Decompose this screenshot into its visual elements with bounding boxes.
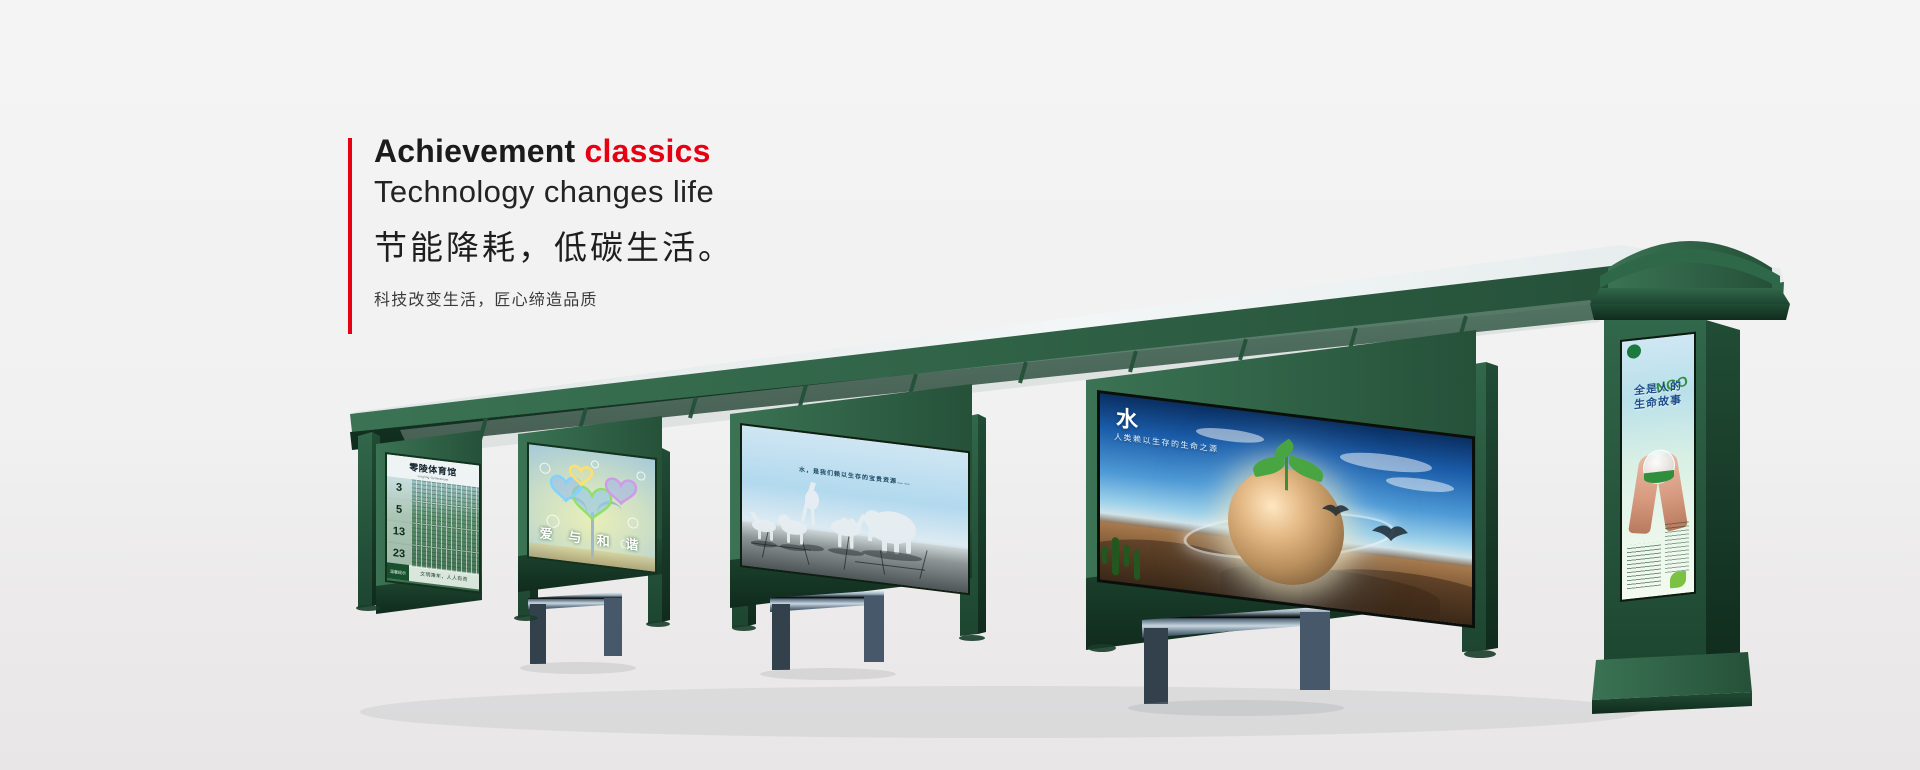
cap-band <box>1590 288 1790 304</box>
panel-eco[interactable]: NGO 全是人的 生命故事 <box>1620 332 1696 602</box>
cap-band-shadow <box>1590 304 1790 320</box>
animal-silhouettes <box>742 425 968 593</box>
eco-title: 全是人的 生命故事 <box>1626 378 1690 413</box>
lightbox-column-side <box>1706 320 1740 676</box>
leaf-mark-icon <box>1670 571 1686 589</box>
route-number: 5 <box>387 498 411 522</box>
water-title: 水 <box>1116 407 1138 432</box>
eco-logo-icon <box>1627 344 1641 360</box>
lightbox-base <box>1592 652 1752 700</box>
bus-shelter-assembly: 零陵体育馆 Lingling Gymnasium 3 5 13 23 <box>0 0 1920 770</box>
timetable-footer-tag: 温馨提示 <box>387 562 409 581</box>
route-number: 13 <box>387 520 411 544</box>
panel-timetable[interactable]: 零陵体育馆 Lingling Gymnasium 3 5 13 23 <box>385 452 481 594</box>
eco-body-copy-right <box>1665 520 1689 573</box>
route-number: 3 <box>387 476 411 500</box>
panel-animals[interactable]: 水，是我们赖以生存的宝贵资源…… <box>740 423 970 595</box>
panel-harmony[interactable]: 爱 与 和 谐 <box>527 442 657 574</box>
timetable-rows: 3 5 13 23 <box>387 476 479 573</box>
bench-2 <box>760 590 896 680</box>
bench-1 <box>520 592 636 674</box>
banner-stage: Achievement classics Technology changes … <box>0 0 1920 770</box>
eco-body-copy-left <box>1627 541 1661 589</box>
ground-shadow <box>360 686 1640 738</box>
